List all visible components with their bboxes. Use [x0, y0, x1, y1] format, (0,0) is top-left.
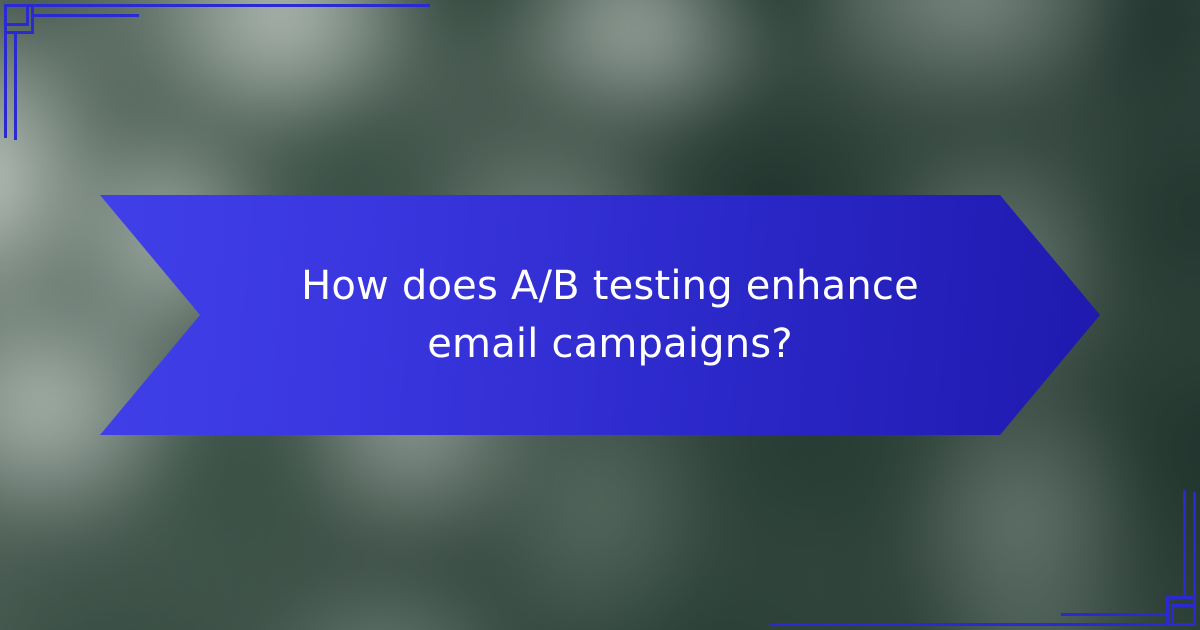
corner-rule-horizontal-inner — [1061, 613, 1166, 616]
page-title: How does A/B testing enhance email campa… — [280, 257, 940, 373]
corner-rule-vertical-outer — [1193, 492, 1196, 607]
corner-rule-elbow-vertical — [1171, 604, 1174, 626]
corner-rule-vertical-inner — [1183, 490, 1186, 598]
corner-rule-horizontal-inner — [34, 14, 139, 17]
corner-rule-elbow-horizontal — [4, 23, 29, 26]
bottom-right-corner-bracket — [1030, 460, 1200, 630]
corner-rule-vertical-outer — [4, 23, 7, 138]
share-card-canvas: How does A/B testing enhance email campa… — [0, 0, 1200, 630]
headline-chevron-banner: How does A/B testing enhance email campa… — [100, 195, 1100, 435]
headline-container: How does A/B testing enhance email campa… — [260, 257, 940, 373]
corner-square-icon — [4, 4, 34, 34]
bottom-edge-accent-rule — [770, 623, 1100, 626]
top-left-corner-bracket — [0, 0, 170, 170]
corner-rule-vertical-inner — [14, 32, 17, 140]
top-edge-accent-rule — [100, 4, 430, 7]
